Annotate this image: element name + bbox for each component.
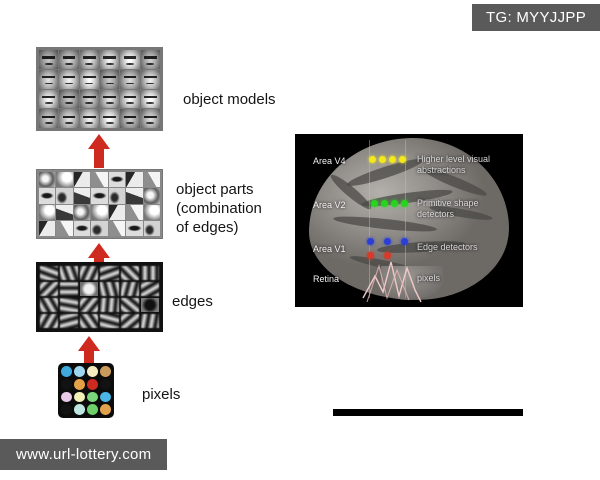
grid-cell [100,90,119,109]
grid-cell [100,282,118,296]
pixel-dot [74,366,85,377]
grid-cell [141,70,160,89]
grid-cell [141,266,159,280]
grid-cell [109,188,125,203]
grid-cell [141,282,159,296]
grid-cell [120,109,139,128]
arrow-up-parts-to-models [88,134,110,168]
pixel-dot [87,366,98,377]
grid-cell [126,172,142,187]
brain-desc-retina: pixels [417,273,440,284]
grid-cell [74,188,90,203]
neuron-dot [369,156,376,163]
stage-label-edges: edges [172,292,213,311]
grid-cell [141,109,160,128]
pixel-dot [100,404,111,415]
grid-cell [39,109,58,128]
pixel-dot [74,404,85,415]
grid-cell [40,314,58,328]
grid-cell [109,205,125,220]
grid-cell [121,266,139,280]
grid-cell [141,90,160,109]
pixel-dot [61,404,72,415]
grid-cell [144,221,160,236]
grid-cell [39,70,58,89]
grid-cell [121,298,139,312]
pixel-dot [87,379,98,390]
grid-cell [120,90,139,109]
pixel-dot [87,392,98,403]
grid-cell [56,188,72,203]
neuron-dot [371,200,378,207]
brain-dots-v1-lower [367,252,391,259]
brain-area-label-retina: Retina [313,274,339,284]
grid-cell [126,205,142,220]
brain-desc-v4: Higher level visual abstractions [417,154,490,176]
arrow-head [88,243,110,258]
pixel-dot [87,404,98,415]
feature-hierarchy-pipeline: object models object parts (com [0,0,300,440]
grid-cell [80,314,98,328]
grid-cell [109,172,125,187]
grid-cell [60,314,78,328]
neuron-dot [401,238,408,245]
grid-cell [100,298,118,312]
object-models-grid [36,47,163,131]
edges-grid [36,262,163,332]
brain-visual-hierarchy-figure: Area V4 Higher level visual abstractions… [295,134,523,307]
pixel-dot [100,366,111,377]
pixel-dot [61,379,72,390]
site-watermark-badge: www.url-lottery.com [0,439,167,470]
grid-cell [100,50,119,69]
retina-signal-squiggle [361,252,423,304]
neuron-dot [379,156,386,163]
grid-cell [39,50,58,69]
grid-cell [120,50,139,69]
grid-cell [56,172,72,187]
grid-cell [80,90,99,109]
grid-cell [39,205,55,220]
grid-cell [100,109,119,128]
grid-cell [91,221,107,236]
grid-cell [39,188,55,203]
stage-label-object-parts: object parts (combination of edges) [176,180,262,237]
grid-cell [39,221,55,236]
grid-cell [126,188,142,203]
pixel-dot [61,366,72,377]
brain-dots-v2 [371,200,408,207]
neuron-dot [399,156,406,163]
brain-area-label-v4: Area V4 [313,156,346,166]
grid-cell [74,221,90,236]
grid-cell [40,266,58,280]
arrow-head [78,336,100,351]
grid-cell [59,90,78,109]
grid-cell [100,314,118,328]
grid-cell [91,205,107,220]
brain-area-label-v1: Area V1 [313,244,346,254]
pixel-dot [61,392,72,403]
brain-dots-v1 [367,238,408,245]
neuron-dot [389,156,396,163]
grid-cell [91,172,107,187]
grid-cell [74,205,90,220]
neuron-dot [381,200,388,207]
grid-cell [144,205,160,220]
grid-cell [80,70,99,89]
grid-cell [121,282,139,296]
brain-desc-v1: Edge detectors [417,242,478,253]
grid-cell [109,221,125,236]
grid-cell [121,314,139,328]
grid-cell [39,172,55,187]
pixel-dot [74,392,85,403]
brain-area-label-v2: Area V2 [313,200,346,210]
grid-cell [91,188,107,203]
neuron-dot [367,252,374,259]
grid-cell [40,282,58,296]
grid-cell [144,188,160,203]
grid-cell [59,70,78,89]
arrow-head [88,134,110,149]
arrow-shaft [94,148,104,168]
pixels-grid [58,363,114,418]
grid-cell [60,282,78,296]
neuron-dot [401,200,408,207]
neuron-dot [367,238,374,245]
telegram-watermark-badge: TG: MYYJJPP [472,4,600,31]
pixel-dot [100,379,111,390]
grid-cell [74,172,90,187]
grid-cell [144,172,160,187]
pixel-dot [74,379,85,390]
neuron-dot [384,238,391,245]
grid-cell [141,50,160,69]
grid-cell [126,221,142,236]
grid-cell [141,314,159,328]
neuron-dot [391,200,398,207]
grid-cell [100,70,119,89]
grid-cell [80,50,99,69]
black-bar-divider [333,409,523,416]
grid-cell [120,70,139,89]
brain-dots-v4 [369,156,406,163]
pixel-dot [100,392,111,403]
grid-cell [80,298,98,312]
grid-cell [56,205,72,220]
grid-cell [39,90,58,109]
grid-cell [80,282,98,296]
grid-cell [100,266,118,280]
grid-cell [59,50,78,69]
stage-label-object-models: object models [183,90,276,109]
grid-cell [56,221,72,236]
grid-cell [80,109,99,128]
neuron-dot [384,252,391,259]
grid-cell [80,266,98,280]
grid-cell [60,298,78,312]
brain-desc-v2: Primitive shape detectors [417,198,479,220]
grid-cell [59,109,78,128]
grid-cell [40,298,58,312]
object-parts-grid [36,169,163,239]
grid-cell [60,266,78,280]
stage-label-pixels: pixels [142,385,180,404]
grid-cell [141,298,159,312]
